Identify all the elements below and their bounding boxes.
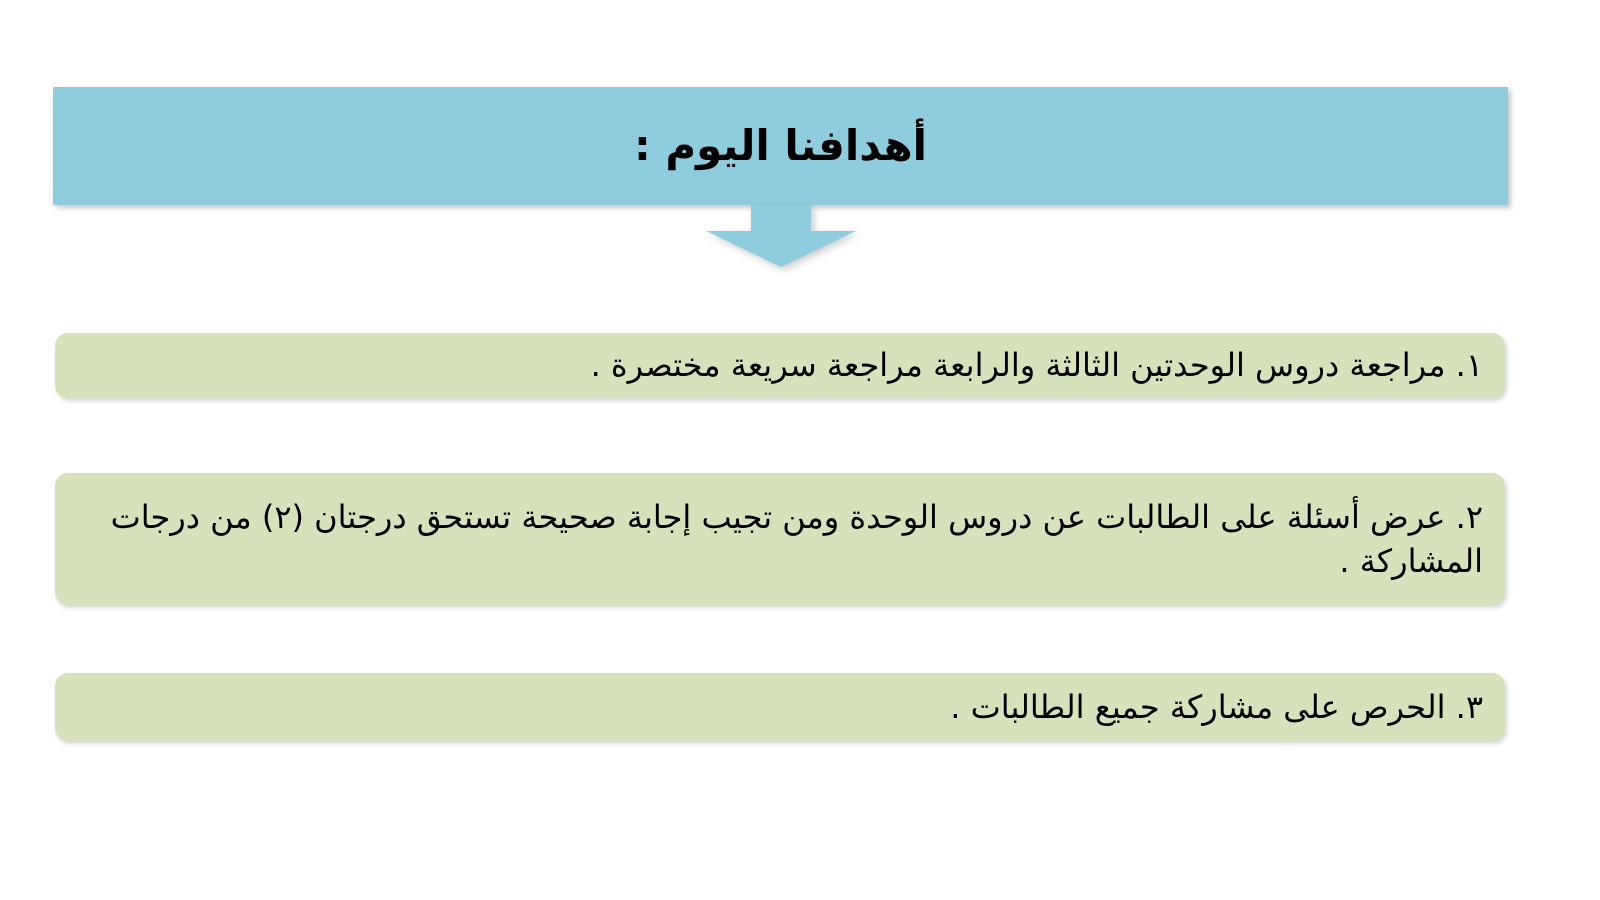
goal-item-1: ١. مراجعة دروس الوحدتين الثالثة والرابعة…: [55, 333, 1505, 398]
presentation-slide: أهدافنا اليوم : ١. مراجعة دروس الوحدتين …: [0, 0, 1600, 900]
goal-item-3-text: ٣. الحرص على مشاركة جميع الطالبات .: [55, 685, 1505, 729]
goal-item-2-text: ٢. عرض أسئلة على الطالبات عن دروس الوحدة…: [55, 495, 1505, 583]
arrow-down-icon: [706, 205, 856, 267]
header-banner: أهدافنا اليوم :: [53, 87, 1508, 205]
header-group: أهدافنا اليوم :: [53, 87, 1508, 205]
goal-item-1-text: ١. مراجعة دروس الوحدتين الثالثة والرابعة…: [55, 343, 1505, 387]
page-title: أهدافنا اليوم :: [634, 123, 927, 169]
goal-item-2: ٢. عرض أسئلة على الطالبات عن دروس الوحدة…: [55, 473, 1505, 605]
goal-item-3: ٣. الحرص على مشاركة جميع الطالبات .: [55, 673, 1505, 741]
